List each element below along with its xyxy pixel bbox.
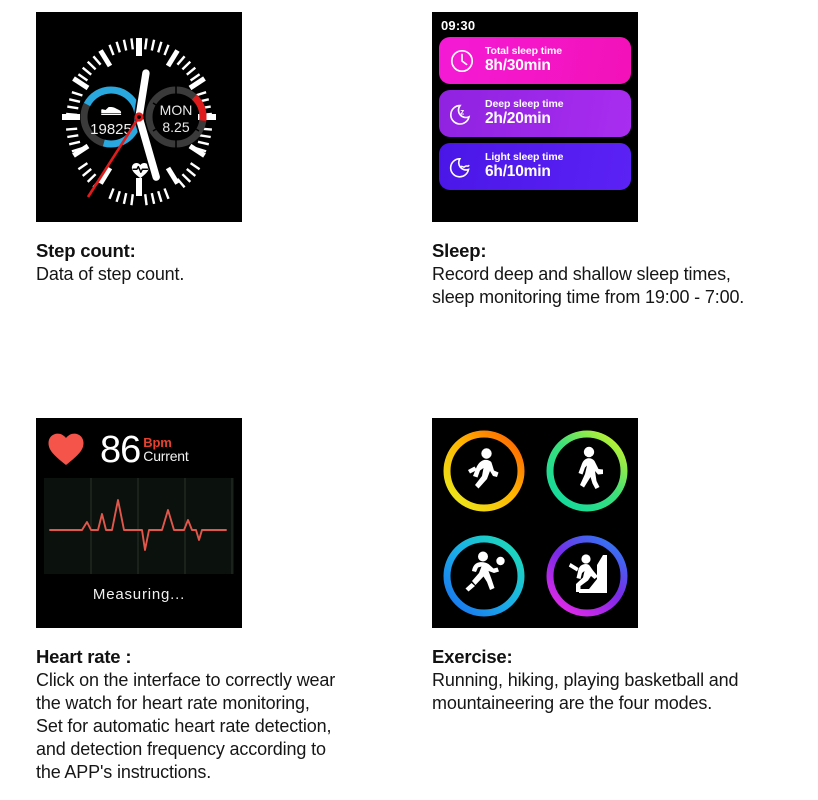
feature-card-step-count: 19825 MON 8.25 (36, 12, 416, 286)
heart-rate-screen[interactable]: 86 Bpm Current Measur (36, 418, 242, 628)
running-icon (468, 448, 499, 488)
exercise-mode-running[interactable] (436, 423, 532, 519)
feature-card-sleep: 09:30 Total sleep time 8h/30min (432, 12, 812, 309)
status-time: 09:30 (432, 12, 638, 33)
caption-body: Running, hiking, playing basketball and … (432, 669, 812, 715)
sleep-card-deep[interactable]: z Deep sleep time 2h/20min (439, 90, 631, 137)
caption-body: Click on the interface to correctly wear… (36, 669, 416, 784)
sleep-screen[interactable]: 09:30 Total sleep time 8h/30min (432, 12, 638, 222)
sleep-card-light[interactable]: Light sleep time 6h/10min (439, 143, 631, 190)
heart-rate-header: 86 Bpm Current (36, 418, 242, 476)
exercise-mode-grid (432, 418, 638, 628)
exercise-screen[interactable] (432, 418, 638, 628)
feature-grid: 19825 MON 8.25 (0, 0, 818, 800)
caption-sleep: Sleep: Record deep and shallow sleep tim… (432, 240, 812, 309)
caption-title: Sleep: (432, 240, 812, 263)
caption-body: Data of step count. (36, 263, 416, 286)
heart-icon (46, 430, 86, 470)
svg-text:z: z (460, 107, 464, 116)
exercise-mode-hiking[interactable] (539, 423, 635, 519)
ecg-graph (44, 478, 234, 574)
feature-card-heart-rate: 86 Bpm Current Measur (36, 418, 416, 784)
watch-face-screen[interactable]: 19825 MON 8.25 (36, 12, 242, 222)
moon-z-icon: z (447, 99, 477, 129)
measuring-status: Measuring... (36, 586, 242, 603)
bpm-value: 86 (100, 431, 140, 469)
climbing-icon (568, 554, 606, 593)
moon-wave-icon (447, 152, 477, 182)
exercise-mode-basketball[interactable] (436, 528, 532, 624)
clock-icon (447, 46, 477, 76)
caption-title: Step count: (36, 240, 416, 263)
ecg-waveform (44, 478, 234, 574)
date-weekday: MON (160, 102, 193, 118)
bpm-context-label: Current (143, 449, 188, 464)
caption-body: Record deep and shallow sleep times, sle… (432, 263, 812, 309)
feature-card-exercise: Exercise: Running, hiking, playing baske… (432, 418, 812, 715)
caption-title: Exercise: (432, 646, 812, 669)
caption-title: Heart rate : (36, 646, 416, 669)
sleep-card-total[interactable]: Total sleep time 8h/30min (439, 37, 631, 84)
sleep-card-value: 6h/10min (485, 164, 563, 180)
walking-icon (578, 446, 603, 488)
step-count-value: 19825 (90, 121, 132, 138)
sleep-card-list: Total sleep time 8h/30min z Deep sleep t… (432, 33, 638, 190)
caption-exercise: Exercise: Running, hiking, playing baske… (432, 646, 812, 715)
basketball-icon (465, 551, 504, 591)
exercise-mode-mountaineering[interactable] (539, 528, 635, 624)
watch-face-graphic: 19825 MON 8.25 (36, 12, 242, 222)
sleep-card-value: 8h/30min (485, 58, 562, 74)
sleep-card-label: Light sleep time (485, 152, 563, 163)
date-day: 8.25 (162, 119, 189, 135)
sleep-card-label: Total sleep time (485, 46, 562, 57)
sleep-card-value: 2h/20min (485, 111, 563, 127)
bpm-unit-label: Bpm (143, 436, 188, 450)
sleep-card-label: Deep sleep time (485, 99, 563, 110)
caption-step-count: Step count: Data of step count. (36, 240, 416, 286)
caption-heart-rate: Heart rate : Click on the interface to c… (36, 646, 416, 784)
